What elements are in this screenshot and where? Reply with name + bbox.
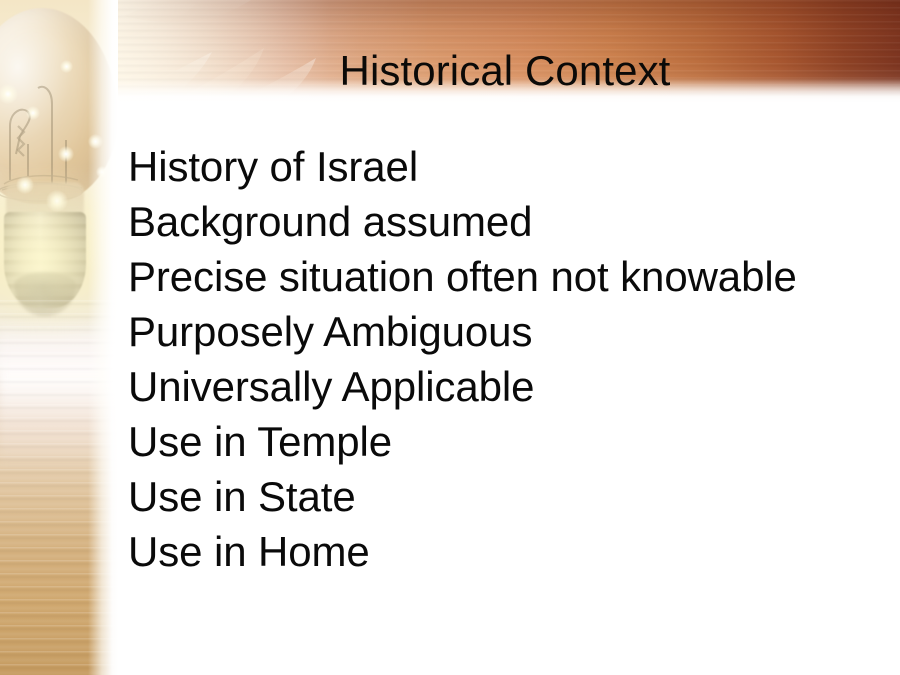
sidebar-decorative-image — [0, 0, 118, 675]
list-item: Use in State — [128, 469, 888, 524]
list-item: Background assumed — [128, 194, 888, 249]
presentation-slide: Historical Context — [0, 0, 900, 675]
list-item: History of Israel — [128, 139, 888, 194]
sidebar-right-feather — [88, 0, 118, 675]
list-item: Use in Temple — [128, 414, 888, 469]
list-item: Use in Home — [128, 524, 888, 579]
page-title: Historical Context — [0, 46, 900, 96]
list-item: Purposely Ambiguous — [128, 304, 888, 359]
list-item: Universally Applicable — [128, 359, 888, 414]
list-item: Precise situation often not knowable — [128, 249, 888, 304]
slide-bullet-list: History of Israel Background assumed Pre… — [128, 139, 888, 579]
